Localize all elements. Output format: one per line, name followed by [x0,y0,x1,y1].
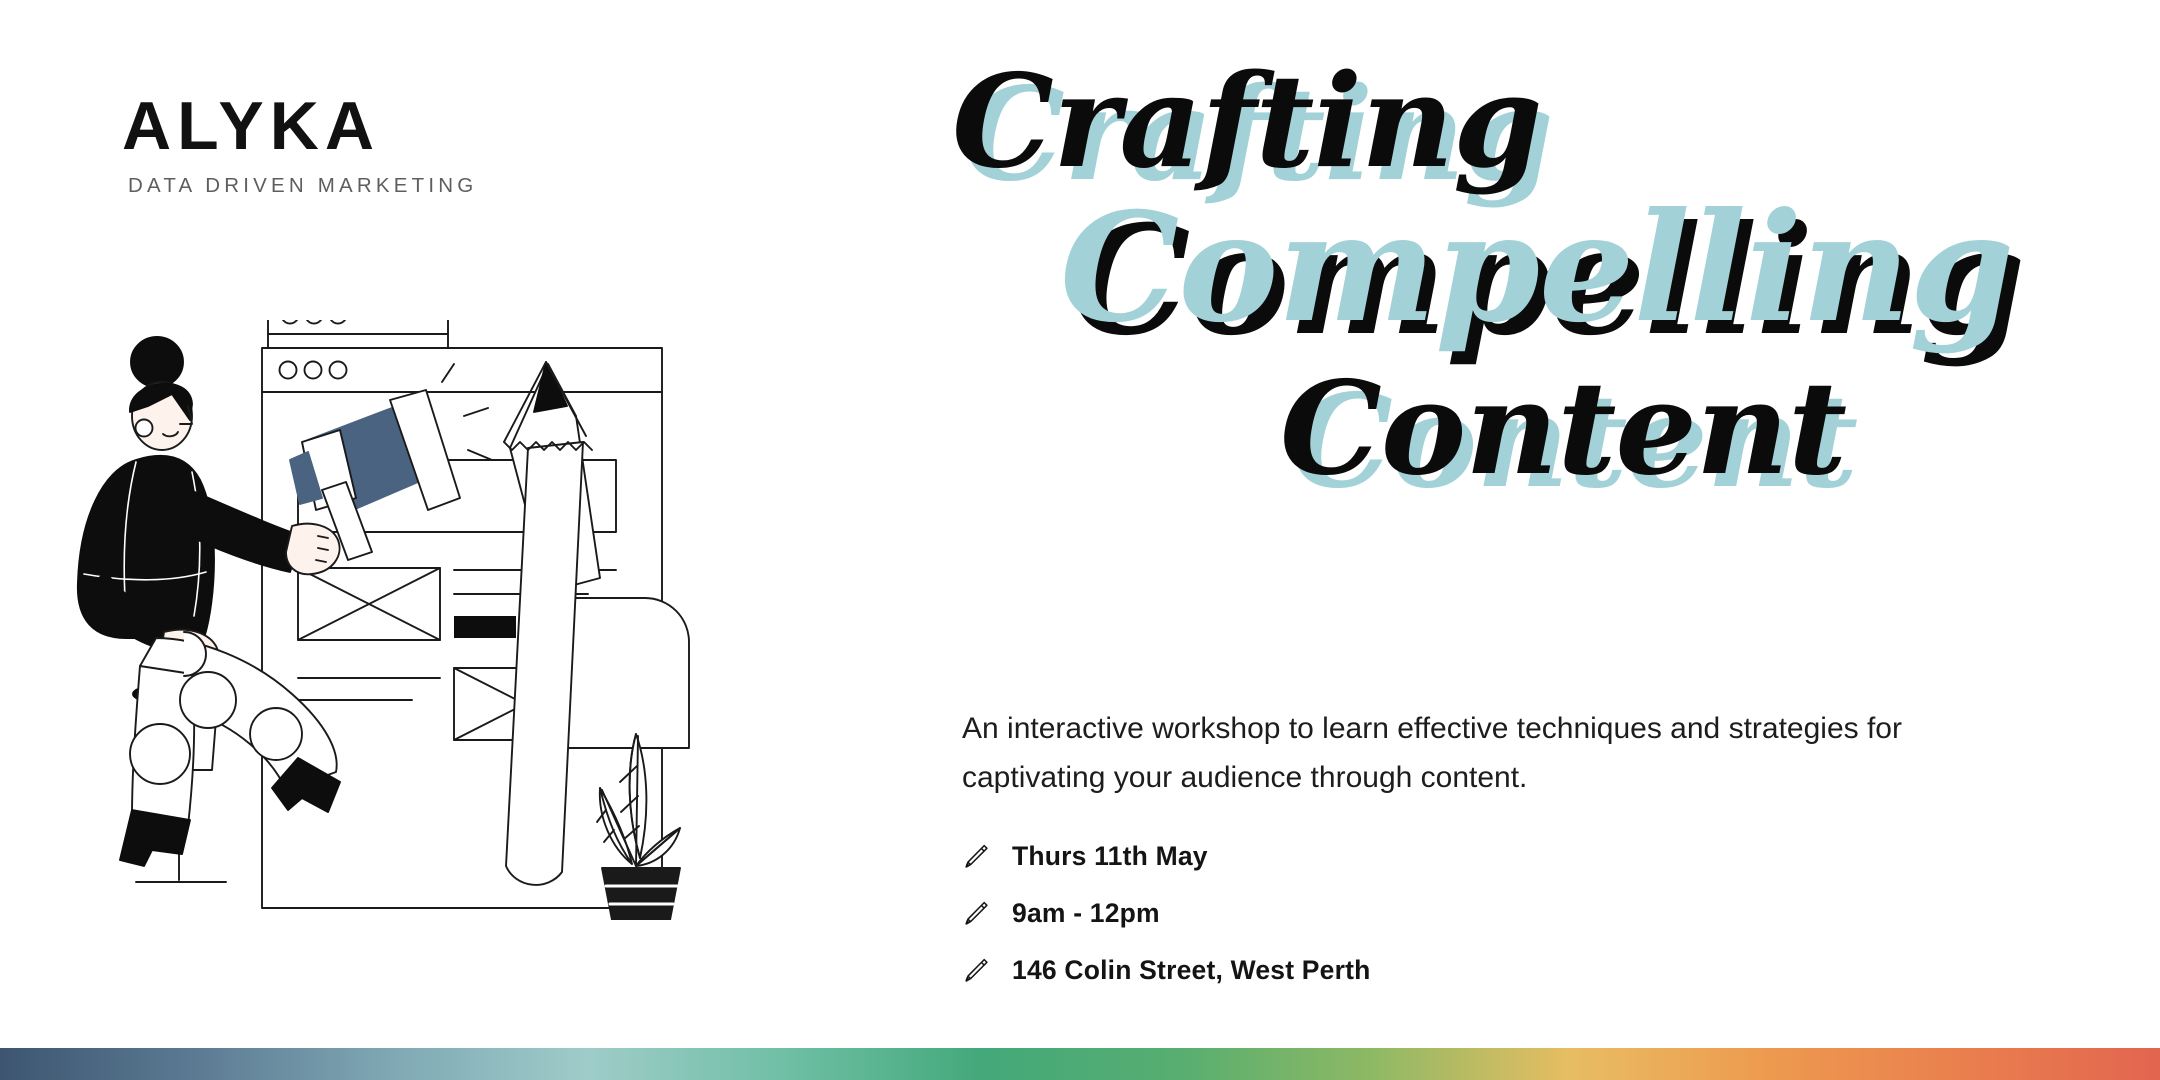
headline-group: Crafting Compelling Content [940,62,2120,490]
pencil-icon [958,897,992,931]
detail-row-location: 146 Colin Street, West Perth [958,942,1858,999]
event-details-list: Thurs 11th May 9am - 12pm [958,828,1858,999]
description-text: An interactive workshop to learn effecti… [962,705,1902,802]
hero-illustration [40,320,960,920]
detail-label-date: Thurs 11th May [1012,841,1208,872]
detail-label-time: 9am - 12pm [1012,898,1160,929]
brand-logo: ALYKA DATA DRIVEN MARKETING [122,92,502,198]
headline-line-2: Compelling [1060,198,2120,339]
pencil-icon [958,954,992,988]
logo-tagline: DATA DRIVEN MARKETING [128,174,502,198]
bottom-gradient-bar [0,1048,2160,1080]
image-placeholder-1 [298,568,440,640]
detail-row-time: 9am - 12pm [958,885,1858,942]
detail-label-location: 146 Colin Street, West Perth [1012,955,1371,986]
headline-line-3: Content [1280,369,2120,489]
headline-line-1: Crafting [952,62,2120,182]
logo-wordmark: ALYKA [122,92,502,160]
event-banner: ALYKA DATA DRIVEN MARKETING [0,0,2160,1080]
detail-row-date: Thurs 11th May [958,828,1858,885]
arch-shape [567,598,689,748]
pencil-icon [958,840,992,874]
